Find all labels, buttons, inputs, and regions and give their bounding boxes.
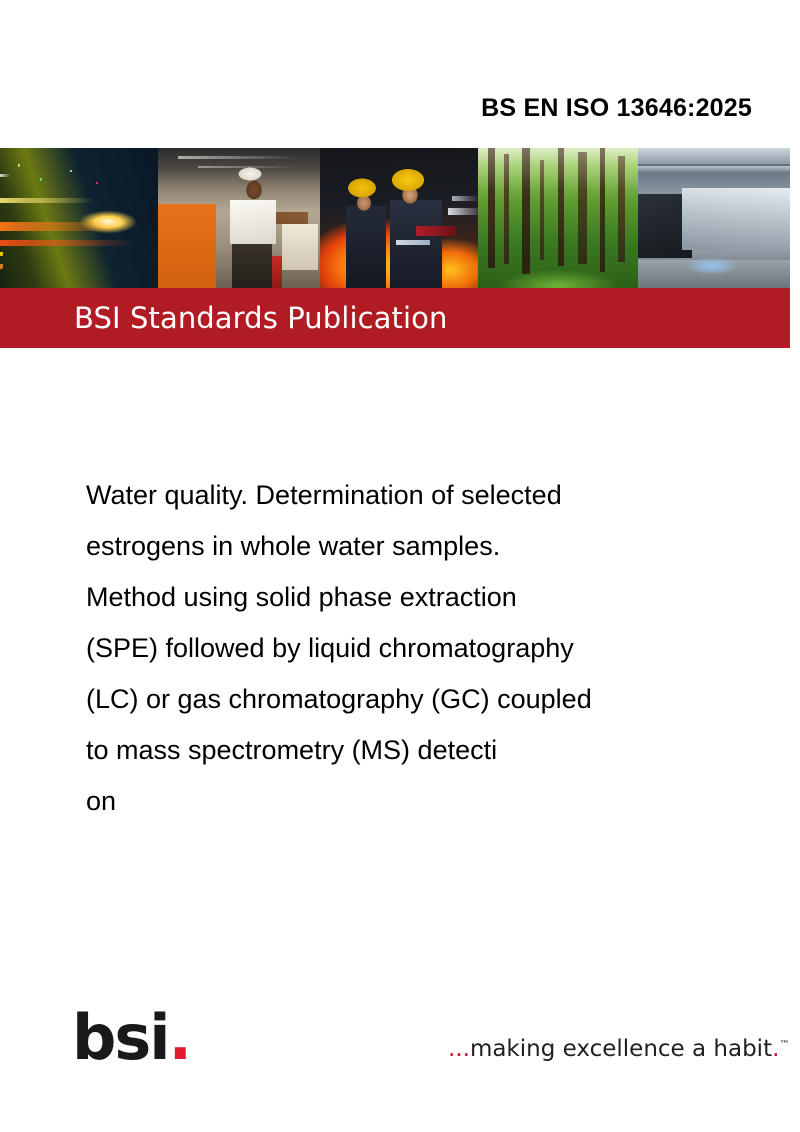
bsi-logo-wordmark: bsi	[72, 1001, 169, 1074]
photo-panel-night-traffic-light-trails	[0, 148, 158, 288]
title-line: on	[86, 776, 746, 827]
photo-panel-forest-trees	[478, 148, 638, 288]
trademark-icon: ™	[779, 1039, 789, 1050]
cover-photo-strip	[0, 148, 790, 288]
photo-panel-warehouse-worker	[158, 148, 320, 288]
bsi-tagline: ...making excellence a habit.™	[448, 1036, 789, 1062]
tagline-leading-ellipsis: ...	[448, 1036, 470, 1062]
title-line: (SPE) followed by liquid chromatography	[86, 623, 746, 674]
bsi-logo-dot: .	[169, 1001, 191, 1074]
title-line: to mass spectrometry (MS) detecti	[86, 725, 746, 776]
photo-panel-firefighters-with-hose	[320, 148, 478, 288]
photo-panel-car-production-line	[638, 148, 790, 288]
tagline-text: making excellence a habit	[470, 1036, 772, 1062]
title-line: (LC) or gas chromatography (GC) coupled	[86, 674, 746, 725]
document-title: Water quality. Determination of selected…	[86, 470, 746, 827]
title-line: Water quality. Determination of selected	[86, 470, 746, 521]
bsi-logo: bsi.	[72, 1007, 190, 1069]
banner-label: BSI Standards Publication	[74, 301, 447, 335]
standard-number: BS EN ISO 13646:2025	[0, 94, 752, 123]
title-line: Method using solid phase extraction	[86, 572, 746, 623]
standards-publication-banner: BSI Standards Publication	[0, 288, 790, 348]
title-line: estrogens in whole water samples.	[86, 521, 746, 572]
